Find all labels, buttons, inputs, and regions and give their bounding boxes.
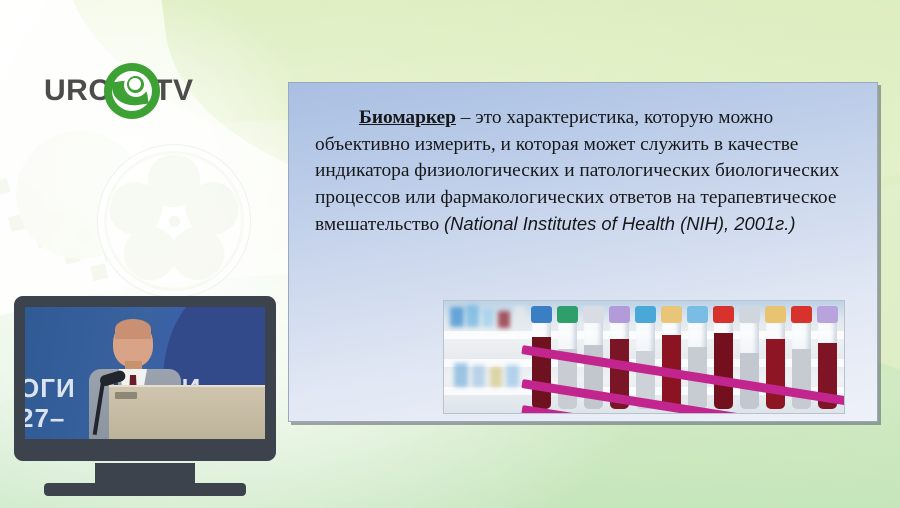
logo-text-uro: URO bbox=[44, 74, 112, 108]
monitor-stand-neck bbox=[95, 463, 195, 485]
uro-tv-leaf-emblem-icon bbox=[104, 63, 160, 119]
logo-text-tv: TV bbox=[154, 74, 193, 108]
definition-citation: (National Institutes of Health (NIH), 20… bbox=[444, 213, 796, 234]
monitor-stand-base bbox=[44, 483, 246, 496]
video-monitor[interactable]: ОГИ ИИ 27– bbox=[14, 296, 276, 461]
backdrop-text-line1: ОГИ bbox=[25, 373, 76, 403]
video-screen[interactable]: ОГИ ИИ 27– bbox=[25, 307, 265, 439]
film-reel-watermark bbox=[0, 125, 275, 310]
definition-paragraph: Биомаркер – это характеристика, которую … bbox=[315, 105, 851, 239]
film-reel-icon bbox=[98, 145, 250, 297]
definition-text-block: Биомаркер – это характеристика, которую … bbox=[289, 83, 877, 239]
podium bbox=[109, 385, 265, 439]
presentation-slide: URO TV ОГИ ИИ 27– bbox=[0, 0, 900, 508]
blood-tubes-photo bbox=[443, 300, 845, 414]
tube-rack bbox=[532, 301, 844, 413]
definition-term: Биомаркер bbox=[359, 107, 456, 128]
uro-tv-logo: URO TV bbox=[44, 62, 194, 120]
